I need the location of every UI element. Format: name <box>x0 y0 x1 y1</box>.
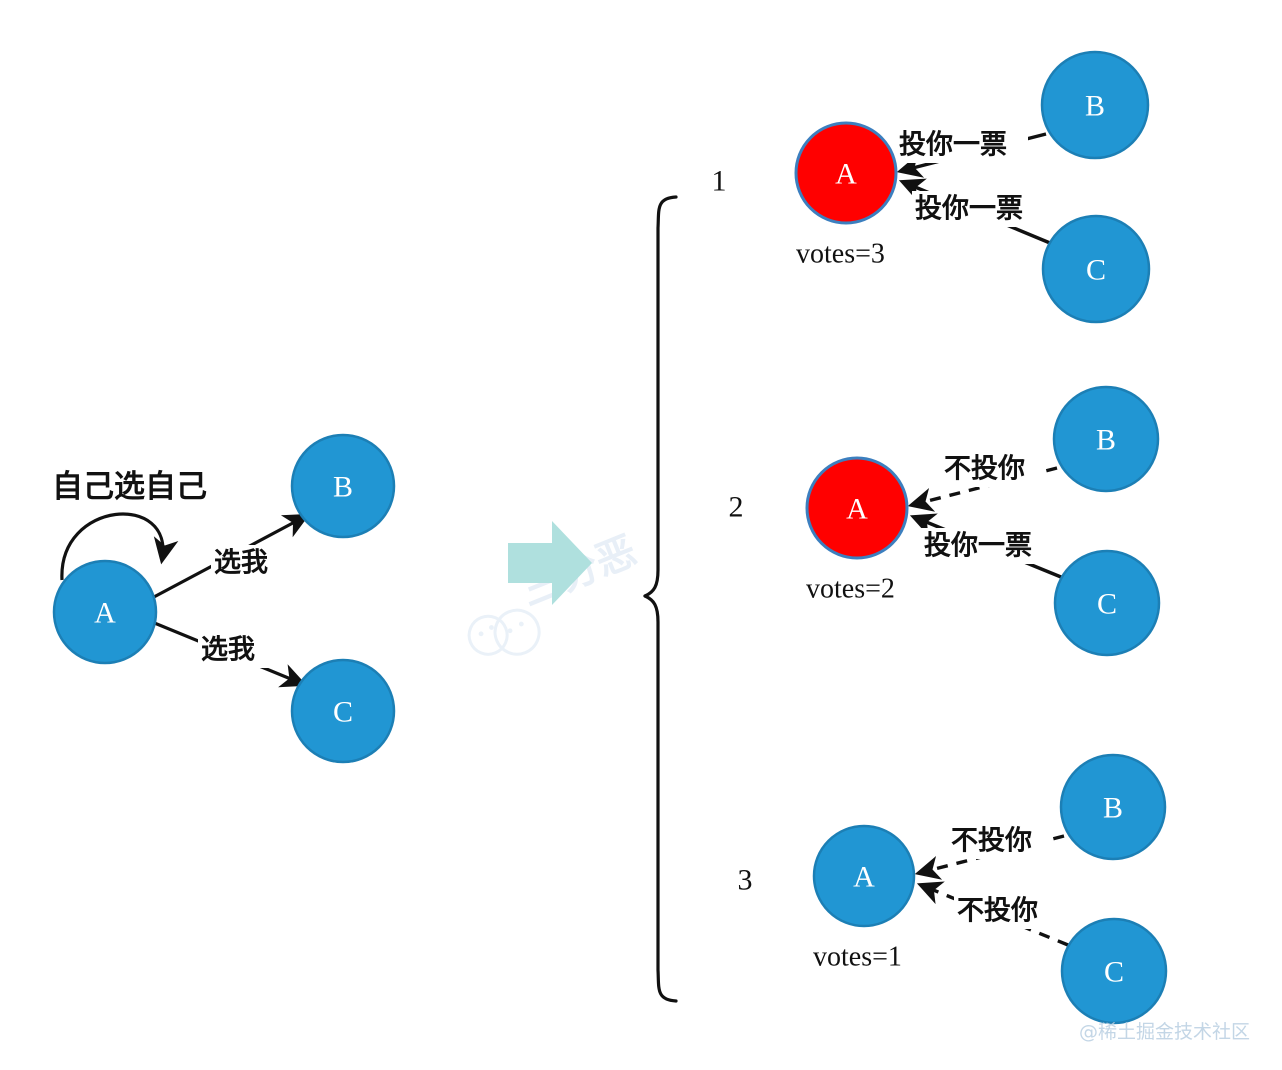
scenario-3-node-b[interactable]: B <box>1061 755 1165 859</box>
scenario-2-edge-label-b: 不投你 <box>941 451 1041 487</box>
scenario-2-number: 2 <box>729 491 744 524</box>
scenario-3-edge-label-c: 不投你 <box>954 893 1054 929</box>
scenario-3-node-c[interactable]: C <box>1062 919 1166 1023</box>
svg-text:投你一票: 投你一票 <box>924 531 1032 562</box>
scenario-2-node-a[interactable]: A <box>807 458 907 558</box>
watermark-bottom-right: @稀土掘金技术社区 <box>1079 1021 1250 1043</box>
svg-text:不投你: 不投你 <box>944 454 1025 485</box>
scenario-1-node-c[interactable]: C <box>1043 216 1149 322</box>
scenario-1-votes: votes=3 <box>796 239 885 270</box>
svg-text:选我: 选我 <box>201 635 255 666</box>
scenario-3-votes: votes=1 <box>813 942 902 973</box>
svg-text:选我: 选我 <box>214 548 268 579</box>
scenario-2-votes: votes=2 <box>806 574 895 605</box>
node-b-left[interactable]: B <box>292 435 394 537</box>
scenario-2: 2 不投你 投你一票 A B C <box>729 387 1160 655</box>
svg-text:不投你: 不投你 <box>951 826 1032 857</box>
left-brace <box>645 197 676 1001</box>
scenario-2-node-c[interactable]: C <box>1055 551 1159 655</box>
node-a-left[interactable]: A <box>54 561 156 663</box>
scenario-3-number: 3 <box>738 864 753 897</box>
edge-label-a-to-c: 选我 <box>198 632 278 668</box>
diagram-canvas: 三分恶 自己选自己 选我 选我 A <box>0 0 1282 1070</box>
svg-text:投你一票: 投你一票 <box>899 130 1007 161</box>
diagram-svg: 三分恶 自己选自己 选我 选我 A <box>0 0 1282 1070</box>
svg-text:投你一票: 投你一票 <box>915 194 1023 225</box>
scenario-2-node-b[interactable]: B <box>1054 387 1158 491</box>
scenario-3-edge-label-b: 不投你 <box>948 823 1048 859</box>
scenario-1-edge-label-c: 投你一票 <box>912 191 1044 227</box>
scenario-3: 3 不投你 不投你 A B C <box>738 755 1167 1023</box>
scenario-2-edge-label-c: 投你一票 <box>921 528 1053 564</box>
scenario-1-node-a[interactable]: A <box>796 123 896 223</box>
left-panel-title: 自己选自己 <box>52 469 207 505</box>
edge-label-a-to-b: 选我 <box>211 545 291 581</box>
left-panel: 自己选自己 选我 选我 A B <box>52 435 394 762</box>
scenario-1: 1 投你一票 投你一票 A B C <box>712 52 1150 322</box>
scenario-1-node-b[interactable]: B <box>1042 52 1148 158</box>
node-c-left[interactable]: C <box>292 660 394 762</box>
scenario-1-number: 1 <box>712 165 727 198</box>
scenario-3-node-a[interactable]: A <box>814 826 914 926</box>
scenario-1-edge-label-b: 投你一票 <box>896 127 1028 163</box>
svg-text:不投你: 不投你 <box>957 896 1038 927</box>
